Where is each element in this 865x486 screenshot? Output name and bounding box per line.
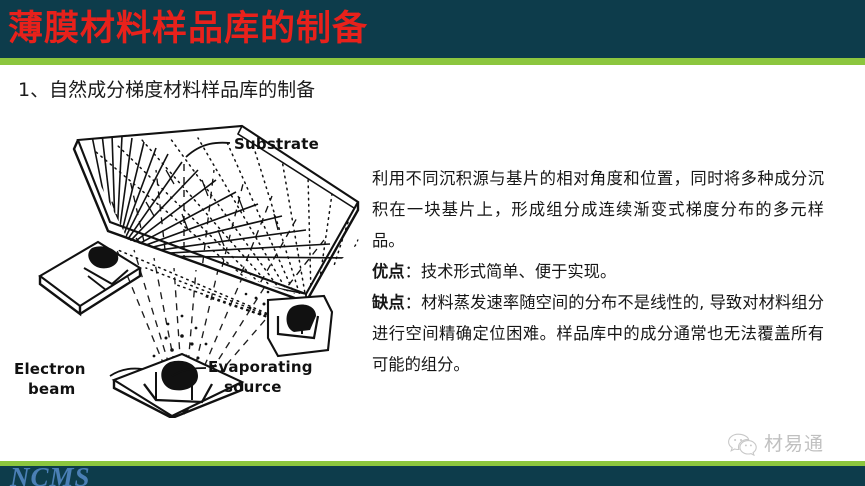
label-substrate: Substrate	[234, 135, 319, 153]
diagram-svg: .sld { stroke:#111; fill:none; } .fluxA …	[6, 118, 362, 418]
wechat-account-name: 材易通	[764, 432, 824, 456]
label-evaporating-line1: Evaporating	[208, 358, 313, 376]
codeposition-diagram: .sld { stroke:#111; fill:none; } .fluxA …	[6, 118, 362, 418]
ncms-logo: NCMS	[10, 462, 91, 486]
label-electron-beam-line2: beam	[28, 380, 75, 398]
paragraph-description: 利用不同沉积源与基片的相对角度和位置，同时将多种成分沉积在一块基片上，形成组分成…	[372, 163, 824, 256]
paragraph-advantage: 优点：技术形式简单、便于实现。	[372, 256, 824, 287]
advantage-label: 优点	[372, 262, 405, 281]
disadvantage-text: ：材料蒸发速率随空间的分布不是线性的, 导致对材料组分进行空间精确定位困难。样品…	[372, 293, 824, 374]
wechat-icon	[727, 432, 757, 456]
wechat-watermark: 材易通	[727, 432, 824, 456]
label-electron-beam-line1: Electron	[14, 360, 86, 378]
section-subtitle: 1、自然成分梯度材料样品库的制备	[18, 76, 315, 104]
advantage-text: ：技术形式简单、便于实现。	[405, 262, 617, 281]
body-text-column: 利用不同沉积源与基片的相对角度和位置，同时将多种成分沉积在一块基片上，形成组分成…	[372, 163, 824, 380]
source-platform-right	[245, 291, 332, 356]
page-title: 薄膜材料样品库的制备	[8, 6, 368, 52]
header-divider	[0, 58, 865, 65]
footer-bar	[0, 466, 865, 486]
disadvantage-label: 缺点	[372, 293, 405, 312]
paragraph-disadvantage: 缺点：材料蒸发速率随空间的分布不是线性的, 导致对材料组分进行空间精确定位困难。…	[372, 287, 824, 380]
slide-canvas: 薄膜材料样品库的制备 1、自然成分梯度材料样品库的制备 .sld { strok…	[0, 0, 865, 486]
label-evaporating-line2: source	[224, 378, 282, 396]
